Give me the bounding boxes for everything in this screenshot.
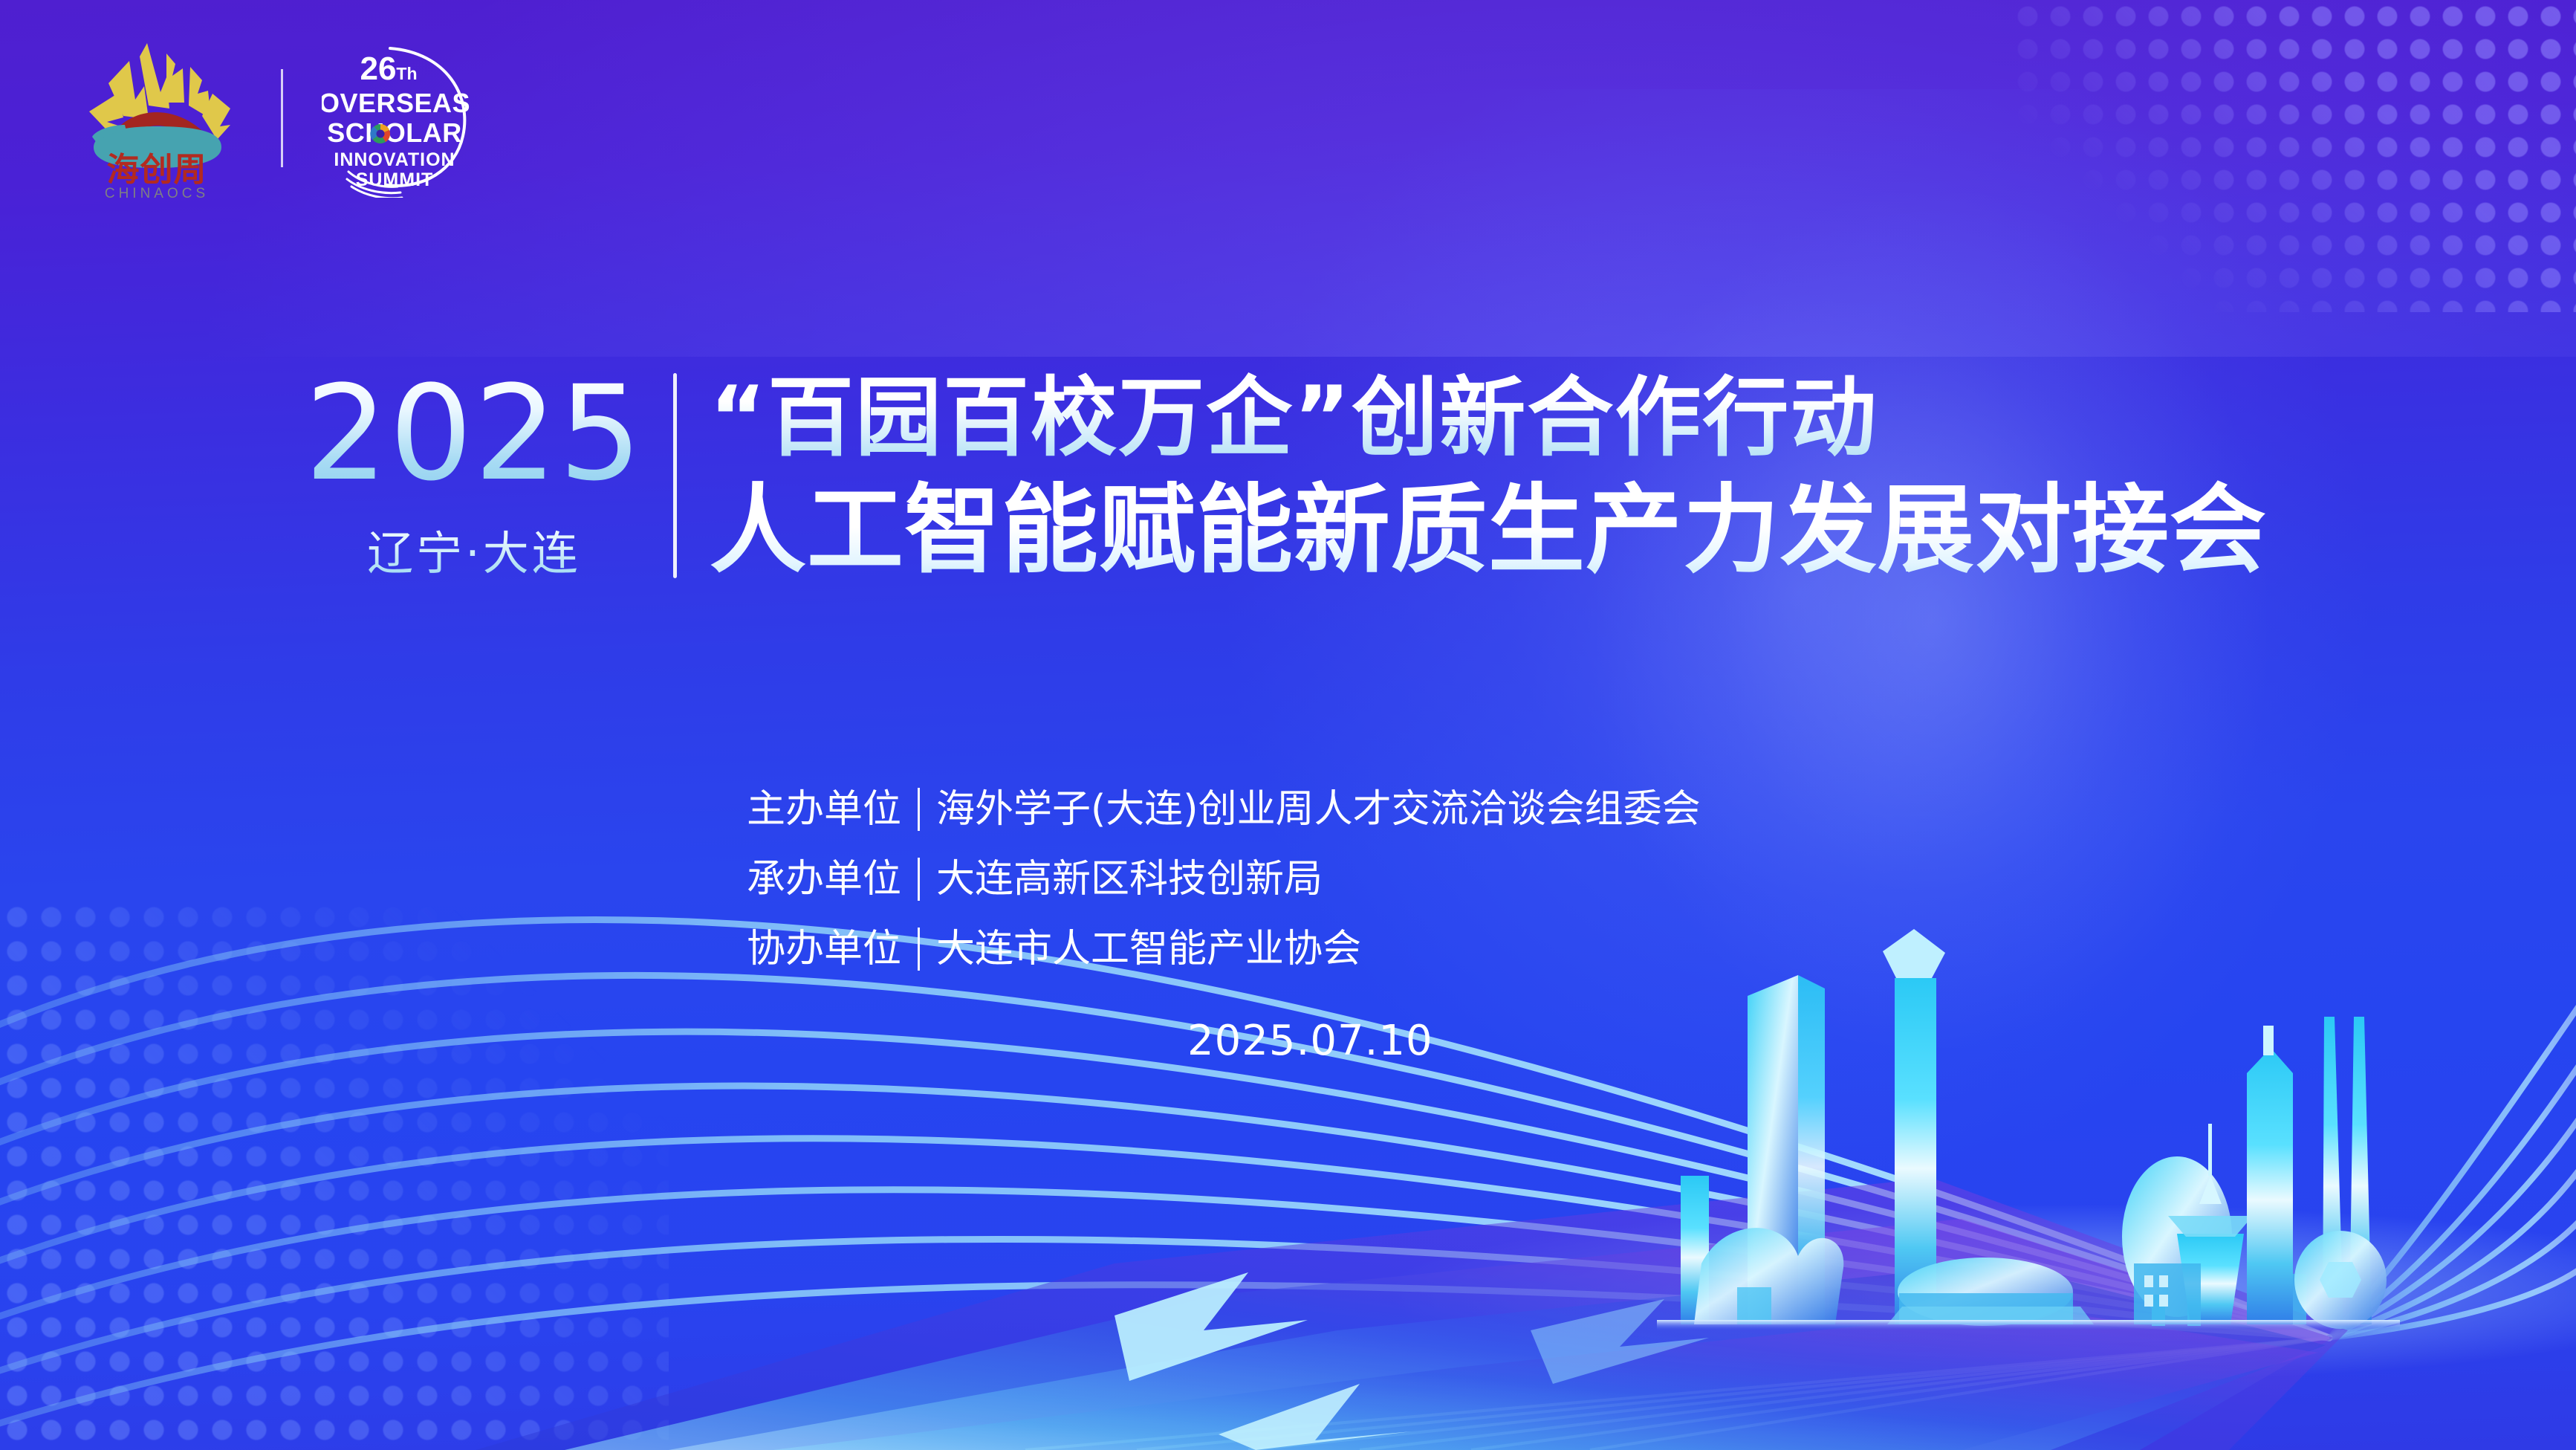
event-date: 2025.07.10 bbox=[1187, 1017, 1433, 1065]
organizer-value: 大连市人工智能产业协会 bbox=[936, 930, 1361, 968]
organizer-separator bbox=[918, 788, 920, 831]
organizer-row-coorganizer: 协办单位 大连市人工智能产业协会 bbox=[747, 928, 1701, 971]
organizer-label: 主办单位 bbox=[747, 790, 901, 829]
year-place-column: 2025 辽宁·大连 bbox=[305, 366, 673, 589]
summit-badge-mark: 26Th OVERSEAS SCHOLAR INNOVATION SUMMIT bbox=[322, 38, 478, 198]
main-title-block: 2025 辽宁·大连 “百园百校万企”创新合作行动 人工智能赋能新质生产力发展对… bbox=[305, 366, 2267, 589]
chinaocs-logo[interactable]: 海创周 CHINAOCS bbox=[71, 34, 242, 201]
halftone-dots-bottom-left bbox=[0, 900, 669, 1450]
title-line-2: 人工智能赋能新质生产力发展对接会 bbox=[710, 471, 2267, 589]
organizer-list: 主办单位 海外学子(大连)创业周人才交流洽谈会组委会 承办单位 大连高新区科技创… bbox=[747, 788, 1701, 997]
summit-badge[interactable]: 26Th OVERSEAS SCHOLAR INNOVATION SUMMIT bbox=[322, 38, 478, 198]
chinaocs-logo-mark: 海创周 CHINAOCS bbox=[71, 34, 242, 201]
organizer-separator bbox=[918, 928, 920, 971]
svg-text:海创周: 海创周 bbox=[107, 151, 207, 189]
badge-line4: SUMMIT bbox=[356, 169, 434, 190]
header-divider bbox=[281, 69, 283, 167]
organizer-label: 承办单位 bbox=[747, 860, 901, 899]
place-text: 辽宁·大连 bbox=[367, 516, 581, 583]
organizer-value: 大连高新区科技创新局 bbox=[936, 860, 1323, 899]
header-logos: 海创周 CHINAOCS 26Th OVERSEAS SCHOLAR bbox=[71, 34, 478, 201]
background-vector-decoration bbox=[0, 0, 2576, 1450]
badge-line3: INNOVATION bbox=[334, 149, 455, 170]
title-lines-column: “百园百校万企”创新合作行动 人工智能赋能新质生产力发展对接会 bbox=[677, 366, 2267, 589]
year-text: 2025 bbox=[305, 372, 643, 496]
halftone-dots-top-right bbox=[2011, 0, 2576, 312]
svg-text:CHINAOCS: CHINAOCS bbox=[105, 186, 209, 201]
organizer-value: 海外学子(大连)创业周人才交流洽谈会组委会 bbox=[936, 790, 1701, 829]
badge-line2: SCHOLAR bbox=[327, 117, 462, 148]
badge-line1: OVERSEAS bbox=[322, 88, 470, 118]
organizer-row-organizer: 承办单位 大连高新区科技创新局 bbox=[747, 858, 1701, 901]
organizer-label: 协办单位 bbox=[747, 930, 901, 968]
organizer-row-host: 主办单位 海外学子(大连)创业周人才交流洽谈会组委会 bbox=[747, 788, 1701, 831]
title-line-1: “百园百校万企”创新合作行动 bbox=[710, 366, 2267, 471]
conference-banner: 海创周 CHINAOCS 26Th OVERSEAS SCHOLAR bbox=[0, 0, 2576, 1450]
badge-ordinal: 26Th bbox=[360, 51, 417, 87]
city-skyline bbox=[1657, 929, 2400, 1330]
organizer-separator bbox=[918, 858, 920, 901]
